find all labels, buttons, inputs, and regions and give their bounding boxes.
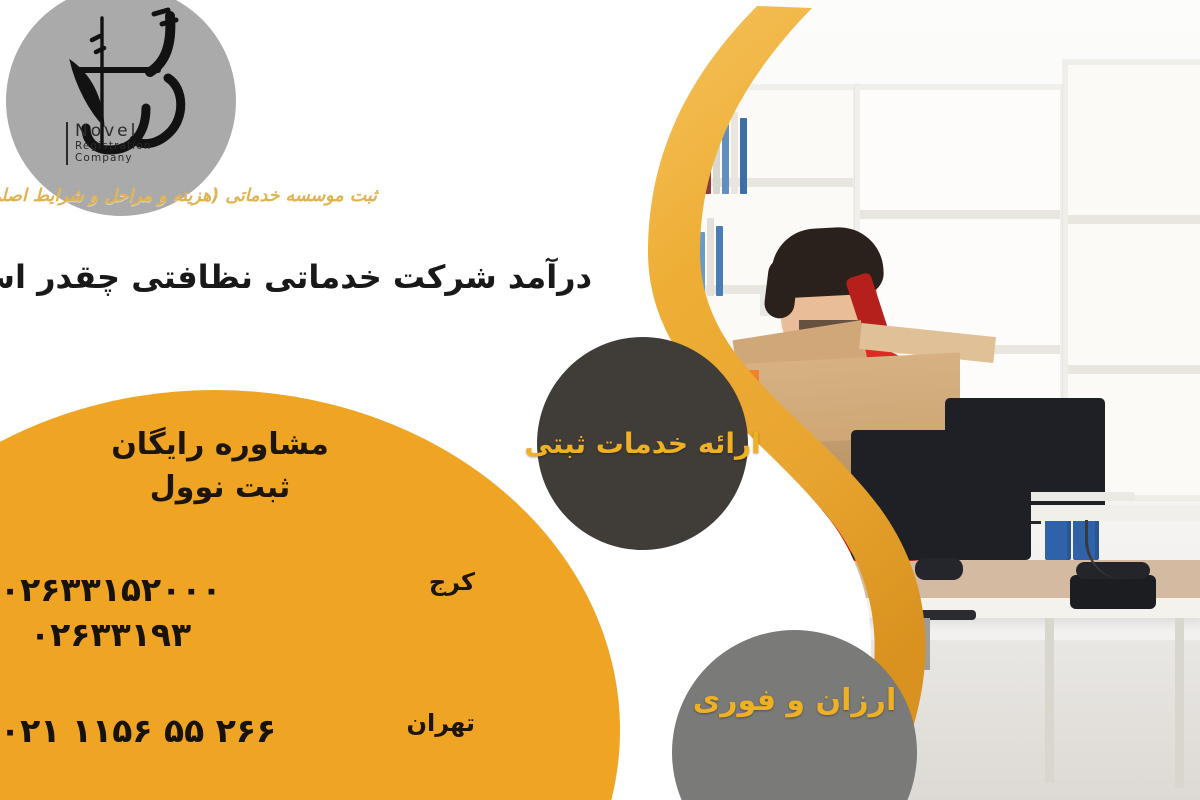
logo-line-company: Company [75, 153, 171, 165]
office-chair [880, 610, 976, 620]
monitor [851, 430, 1031, 560]
banner-canvas: Novel Registration Company ثبت موسسه خدم… [0, 0, 1200, 800]
phone-number[interactable]: ۰۲۶۳۳۱۹۳ [0, 613, 380, 658]
contact-row-tehran: تهران ۰۲۱ ۱۱۵۶ ۵۵ ۲۶۶ [0, 709, 500, 754]
badge-services[interactable]: ارائه خدمات ثبتی [537, 337, 748, 550]
contact-row-karaj: کرج ۰۲۶۳۳۱۵۲۰۰۰ ۰۲۶۳۳۱۹۳ [0, 568, 500, 657]
phone-number[interactable]: ۰۲۱ ۱۱۵۶ ۵۵ ۲۶۶ [0, 709, 380, 754]
promo-block: مشاوره رایگان ثبت نوول [0, 424, 440, 509]
badge-services-label: ارائه خدمات ثبتی [524, 427, 760, 460]
promo-line-1: مشاوره رایگان [0, 424, 440, 467]
logo-line-novel: Novel [75, 122, 171, 141]
desk-phone [1070, 575, 1156, 609]
logo-wordmark: Novel Registration Company [66, 122, 171, 165]
kicker-text: ثبت موسسه خدماتی (هزینه و مراحل و شرایط … [0, 186, 495, 206]
city-label-tehran: تهران [407, 709, 476, 737]
phone-number[interactable]: ۰۲۶۳۳۱۵۲۰۰۰ [0, 568, 380, 613]
books [686, 110, 747, 194]
promo-line-2: ثبت نوول [0, 467, 440, 510]
page-title: درآمد شرکت خدماتی نظافتی چقدر است؟ [32, 258, 592, 296]
badge-cheap-fast-label: ارزان و فوری [693, 683, 896, 718]
contact-list: کرج ۰۲۶۳۳۱۵۲۰۰۰ ۰۲۶۳۳۱۹۳ تهران ۰۲۱ ۱۱۵۶ … [0, 568, 500, 760]
logo-badge[interactable]: Novel Registration Company [6, 0, 236, 216]
city-label-karaj: کرج [429, 568, 475, 596]
